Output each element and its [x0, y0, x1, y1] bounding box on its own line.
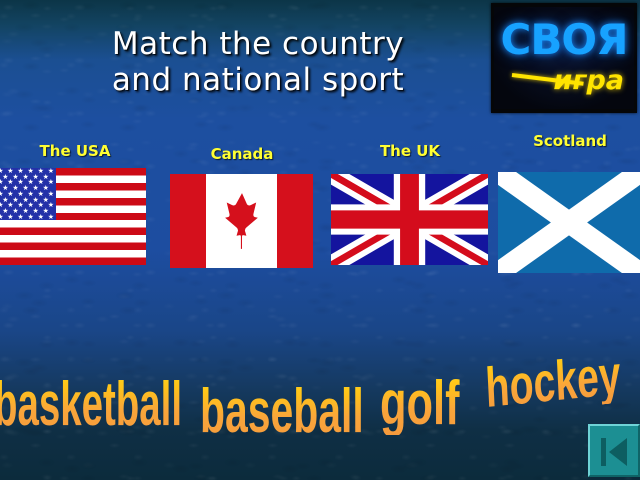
presentation-slide: Match the country and national sport СВО… — [0, 0, 640, 480]
page-title: Match the country and national sport — [48, 26, 468, 98]
country-label-uk: The UK — [332, 142, 488, 160]
flag-uk-icon — [331, 174, 488, 265]
flag-usa-icon: ★ ★ ★ ★ ★ ★ ★ ★ ★ ★ ★ ★ ★ ★ ★ ★ ★ ★ ★ ★ … — [0, 168, 146, 265]
usa-canton: ★ ★ ★ ★ ★ ★ ★ ★ ★ ★ ★ ★ ★ ★ ★ ★ ★ ★ ★ ★ … — [0, 168, 56, 220]
canada-left-bar — [170, 174, 206, 268]
logo-inner-panel: СВОЯ игра — [494, 7, 634, 109]
svoya-igra-logo: СВОЯ игра — [491, 3, 637, 113]
flag-canada-icon — [170, 174, 313, 268]
sport-word-golf: golf — [380, 373, 460, 435]
maple-leaf-icon — [214, 191, 270, 251]
canada-right-bar — [277, 174, 313, 268]
country-label-scotland: Scotland — [500, 132, 640, 150]
sport-word-baseball: baseball — [200, 381, 364, 443]
previous-slide-button[interactable] — [588, 424, 640, 477]
logo-text-svoya: СВОЯ — [494, 19, 634, 61]
union-jack-svg — [331, 174, 488, 265]
sport-word-basketball: basketball — [0, 374, 182, 436]
usa-star-row: ★ ★ ★ ★ ★ ★ — [0, 215, 56, 221]
sport-word-hockey: hockey — [484, 347, 622, 416]
country-label-canada: Canada — [168, 145, 316, 163]
flag-scotland-icon — [498, 172, 640, 273]
logo-text-igra: игра — [553, 67, 624, 94]
previous-icon — [597, 435, 631, 469]
country-label-usa: The USA — [0, 142, 150, 160]
title-line-2: and national sport — [48, 62, 468, 98]
title-line-1: Match the country — [48, 26, 468, 62]
